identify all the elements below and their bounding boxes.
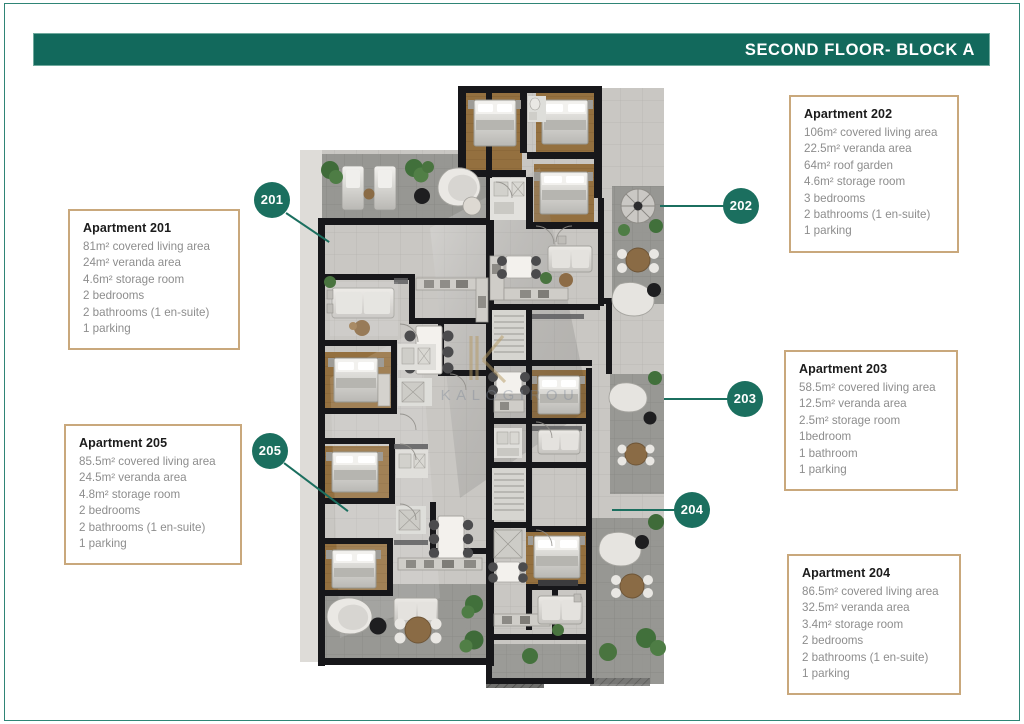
apartment-title-204: Apartment 204 (802, 566, 947, 580)
apartment-detail: 1 bathroom (799, 446, 944, 462)
apartment-title-205: Apartment 205 (79, 436, 228, 450)
apartment-detail: 3.4m² storage room (802, 617, 947, 633)
apartment-detail: 1bedroom (799, 429, 944, 445)
apartment-title-202: Apartment 202 (804, 107, 945, 121)
apartment-detail: 4.8m² storage room (79, 487, 228, 503)
apartment-detail: 2 bathrooms (1 en-suite) (79, 520, 228, 536)
apartment-detail: 22.5m² veranda area (804, 141, 945, 157)
apartment-detail: 2 bedrooms (83, 288, 226, 304)
apartment-detail: 4.6m² storage room (83, 272, 226, 288)
apartment-detail: 1 parking (83, 321, 226, 337)
marker-202[interactable]: 202 (723, 188, 759, 224)
marker-203[interactable]: 203 (727, 381, 763, 417)
apartment-detail: 86.5m² covered living area (802, 584, 947, 600)
apartment-title-201: Apartment 201 (83, 221, 226, 235)
apartment-detail: 1 parking (799, 462, 944, 478)
leader-line-203 (664, 398, 730, 400)
apartment-detail: 2 bathrooms (1 en-suite) (804, 207, 945, 223)
apartment-title-203: Apartment 203 (799, 362, 944, 376)
apartment-info-203: Apartment 203 58.5m² covered living area… (784, 350, 958, 491)
leader-line-202 (660, 205, 726, 207)
apartment-detail: 58.5m² covered living area (799, 380, 944, 396)
apartment-detail: 1 parking (804, 223, 945, 239)
apartment-detail: 1 parking (79, 536, 228, 552)
apartment-detail: 2 bedrooms (79, 503, 228, 519)
apartment-detail: 12.5m² veranda area (799, 396, 944, 412)
apartment-detail: 24.5m² veranda area (79, 470, 228, 486)
apartment-info-201: Apartment 201 81m² covered living area 2… (68, 209, 240, 350)
marker-205[interactable]: 205 (252, 433, 288, 469)
apartment-detail: 24m² veranda area (83, 255, 226, 271)
apartment-detail: 2.5m² storage room (799, 413, 944, 429)
apartment-info-205: Apartment 205 85.5m² covered living area… (64, 424, 242, 565)
apartment-detail: 85.5m² covered living area (79, 454, 228, 470)
header-banner: SECOND FLOOR- BLOCK A (33, 33, 990, 66)
leader-line-204 (612, 509, 676, 511)
apartment-detail: 106m² covered living area (804, 125, 945, 141)
apartment-info-202: Apartment 202 106m² covered living area … (789, 95, 959, 253)
marker-204[interactable]: 204 (674, 492, 710, 528)
apartment-detail: 32.5m² veranda area (802, 600, 947, 616)
apartment-detail: 1 parking (802, 666, 947, 682)
apartment-detail: 3 bedrooms (804, 191, 945, 207)
apartment-detail: 64m² roof garden (804, 158, 945, 174)
page-title: SECOND FLOOR- BLOCK A (745, 34, 975, 67)
apartment-detail: 2 bathrooms (1 en-suite) (802, 650, 947, 666)
apartment-detail: 4.6m² storage room (804, 174, 945, 190)
apartment-detail: 2 bathrooms (1 en-suite) (83, 305, 226, 321)
floor-plan-page: SECOND FLOOR- BLOCK A (0, 0, 1024, 724)
apartment-detail: 2 bedrooms (802, 633, 947, 649)
apartment-info-204: Apartment 204 86.5m² covered living area… (787, 554, 961, 695)
marker-201[interactable]: 201 (254, 182, 290, 218)
floor-plan-image (290, 78, 710, 688)
apartment-detail: 81m² covered living area (83, 239, 226, 255)
